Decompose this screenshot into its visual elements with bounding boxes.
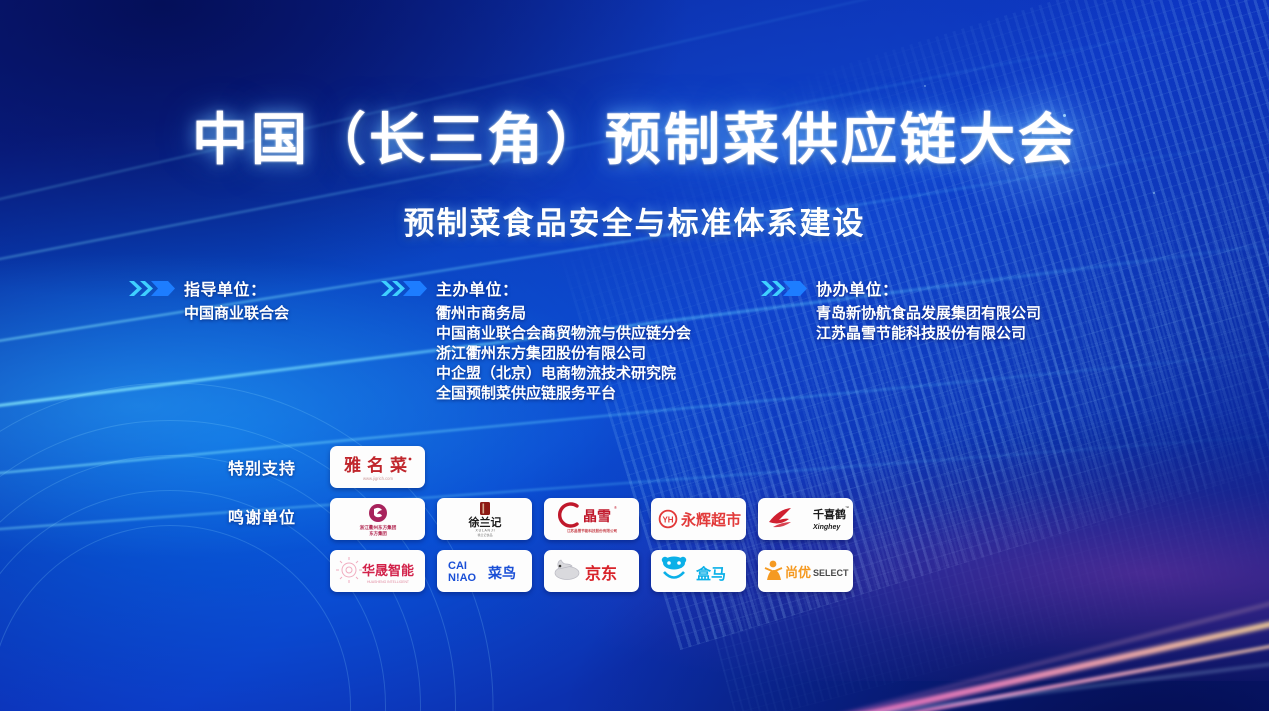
double-chevron-icon — [760, 279, 808, 298]
svg-text:菜鸟: 菜鸟 — [487, 565, 516, 581]
sponsor-logo-qianxihe[interactable]: 千喜鹤 ™ Xinghey — [758, 498, 853, 540]
sponsor-logo-row: 华晟智能 HUASHENG INTELLIGENT CAI N!AO 菜鸟 — [330, 550, 853, 592]
sponsor-logo-jingxue[interactable]: 晶雪 ® 江苏晶雪节能科技股份有限公司 — [544, 498, 639, 540]
organizer-role-label: 协办单位： — [816, 276, 899, 300]
svg-text:CAI: CAI — [448, 560, 467, 572]
sponsor-section-label: 鸣谢单位 — [0, 511, 330, 527]
organizer-group-header: 协办单位： — [760, 276, 1041, 300]
sponsor-section-label: 特别支持 — [0, 455, 330, 479]
organizer-group-coorganizer: 协办单位： 青岛新协航食品发展集团有限公司 江苏晶雪节能科技股份有限公司 — [760, 276, 1041, 344]
svg-text:千喜鹤: 千喜鹤 — [813, 507, 846, 521]
svg-text:尚优: 尚优 — [785, 565, 811, 580]
svg-text:HUASHENG INTELLIGENT: HUASHENG INTELLIGENT — [366, 580, 408, 584]
svg-text:永辉超市: 永辉超市 — [680, 511, 741, 529]
svg-text:®: ® — [614, 505, 617, 510]
sponsor-logo-cainiao[interactable]: CAI N!AO 菜鸟 — [437, 550, 532, 592]
organizer-name-list: 衢州市商务局 中国商业联合会商贸物流与供应链分会 浙江衢州东方集团股份有限公司 … — [380, 304, 691, 404]
svg-text:东方集团: 东方集团 — [369, 530, 387, 537]
xulanji-logo-icon: 徐兰记 X U L A N J I 徐兰记食品 — [440, 500, 530, 538]
organizer-name: 青岛新协航食品发展集团有限公司 — [816, 304, 1041, 324]
jd-joy-dog-logo-icon: 京东 — [547, 552, 637, 590]
svg-text:菜: 菜 — [389, 456, 408, 475]
organizer-group-guidance: 指导单位： 中国商业联合会 — [128, 276, 289, 324]
svg-text:徐兰记: 徐兰记 — [467, 515, 501, 529]
sponsor-logo-huasheng[interactable]: 华晟智能 HUASHENG INTELLIGENT — [330, 550, 425, 592]
svg-text:X U L A N J I: X U L A N J I — [475, 529, 494, 533]
organizer-name: 衢州市商务局 — [436, 304, 691, 324]
dongfang-group-logo-icon: 浙江衢州东方集团 东方集团 — [333, 500, 423, 538]
organizer-groups: 指导单位： 中国商业联合会 主办单位： 衢州市商务局 — [0, 276, 1269, 416]
page-title: 中国（长三角）预制菜供应链大会 — [0, 95, 1269, 176]
sponsor-logo-xulanji[interactable]: 徐兰记 X U L A N J I 徐兰记食品 — [437, 498, 532, 540]
svg-text:京东: 京东 — [585, 564, 617, 583]
cainiao-logo-icon: CAI N!AO 菜鸟 — [440, 552, 530, 590]
sponsor-section-thanks-row2: 华晟智能 HUASHENG INTELLIGENT CAI N!AO 菜鸟 — [0, 550, 1269, 592]
sponsor-logo-shangyou-select[interactable]: 尚优 SELECT — [758, 550, 853, 592]
svg-text:江苏晶雪节能科技股份有限公司: 江苏晶雪节能科技股份有限公司 — [566, 528, 617, 533]
sponsor-section-special-support: 特别支持 雅名菜 www.jigrich.com — [0, 446, 1269, 488]
organizer-name: 中国商业联合会商贸物流与供应链分会 — [436, 324, 691, 344]
sponsor-logo-yamingcai[interactable]: 雅名菜 www.jigrich.com — [330, 446, 425, 488]
organizer-group-host: 主办单位： 衢州市商务局 中国商业联合会商贸物流与供应链分会 浙江衢州东方集团股… — [380, 276, 691, 404]
svg-text:™: ™ — [845, 505, 849, 510]
yamingcai-logo-icon: 雅名菜 www.jigrich.com — [334, 449, 422, 485]
organizer-name: 全国预制菜供应链服务平台 — [436, 384, 691, 404]
sponsor-logo-dongfang-group[interactable]: 浙江衢州东方集团 东方集团 — [330, 498, 425, 540]
double-chevron-icon — [380, 279, 428, 298]
organizer-name-list: 青岛新协航食品发展集团有限公司 江苏晶雪节能科技股份有限公司 — [760, 304, 1041, 344]
shangyou-select-logo-icon: 尚优 SELECT — [761, 552, 851, 590]
svg-text:SELECT: SELECT — [813, 568, 849, 578]
sponsor-logo-row: 浙江衢州东方集团 东方集团 徐兰记 X U L A N J I 徐兰记食品 — [330, 498, 853, 540]
svg-text:徐兰记食品: 徐兰记食品 — [477, 532, 492, 537]
organizer-name: 中企盟（北京）电商物流技术研究院 — [436, 364, 691, 384]
organizer-name-list: 中国商业联合会 — [128, 304, 289, 324]
sponsor-logo-row: 雅名菜 www.jigrich.com — [330, 446, 425, 488]
qianxihe-logo-icon: 千喜鹤 ™ Xinghey — [761, 500, 851, 538]
svg-text:YH: YH — [662, 516, 673, 525]
poster-canvas: 中国（长三角）预制菜供应链大会 预制菜食品安全与标准体系建设 指导单位： 中国商… — [0, 0, 1269, 711]
sponsor-sections: 特别支持 雅名菜 www.jigrich.com 鸣谢单位 — [0, 446, 1269, 602]
sponsor-section-thanks-row1: 鸣谢单位 浙江衢州东方集团 东方集团 — [0, 498, 1269, 540]
double-chevron-icon — [128, 279, 176, 298]
svg-text:雅: 雅 — [343, 455, 361, 475]
svg-text:晶雪: 晶雪 — [583, 508, 611, 525]
organizer-name: 浙江衢州东方集团股份有限公司 — [436, 344, 691, 364]
organizer-group-header: 主办单位： — [380, 276, 691, 300]
organizer-group-header: 指导单位： — [128, 276, 289, 300]
svg-text:www.jigrich.com: www.jigrich.com — [362, 476, 393, 481]
jingxue-logo-icon: 晶雪 ® 江苏晶雪节能科技股份有限公司 — [547, 500, 637, 538]
svg-text:Xinghey: Xinghey — [812, 524, 841, 531]
svg-text:华晟智能: 华晟智能 — [362, 563, 414, 578]
sponsor-logo-jd[interactable]: 京东 — [544, 550, 639, 592]
yonghui-supermarket-logo-icon: YH 永辉超市 — [654, 500, 744, 538]
organizer-role-label: 指导单位： — [184, 276, 267, 300]
svg-text:N!AO: N!AO — [448, 572, 477, 584]
svg-text:名: 名 — [367, 455, 384, 475]
page-subtitle: 预制菜食品安全与标准体系建设 — [0, 198, 1269, 243]
organizer-name: 江苏晶雪节能科技股份有限公司 — [816, 324, 1041, 344]
sponsor-logo-yonghui[interactable]: YH 永辉超市 — [651, 498, 746, 540]
organizer-name: 中国商业联合会 — [184, 304, 289, 324]
organizer-role-label: 主办单位： — [436, 276, 519, 300]
sponsor-logo-hema[interactable]: 盒马 — [651, 550, 746, 592]
svg-text:盒马: 盒马 — [695, 565, 726, 583]
hema-hippo-logo-icon: 盒马 — [654, 552, 744, 590]
svg-text:浙江衢州东方集团: 浙江衢州东方集团 — [359, 524, 396, 531]
huasheng-intelligent-logo-icon: 华晟智能 HUASHENG INTELLIGENT — [333, 552, 423, 590]
